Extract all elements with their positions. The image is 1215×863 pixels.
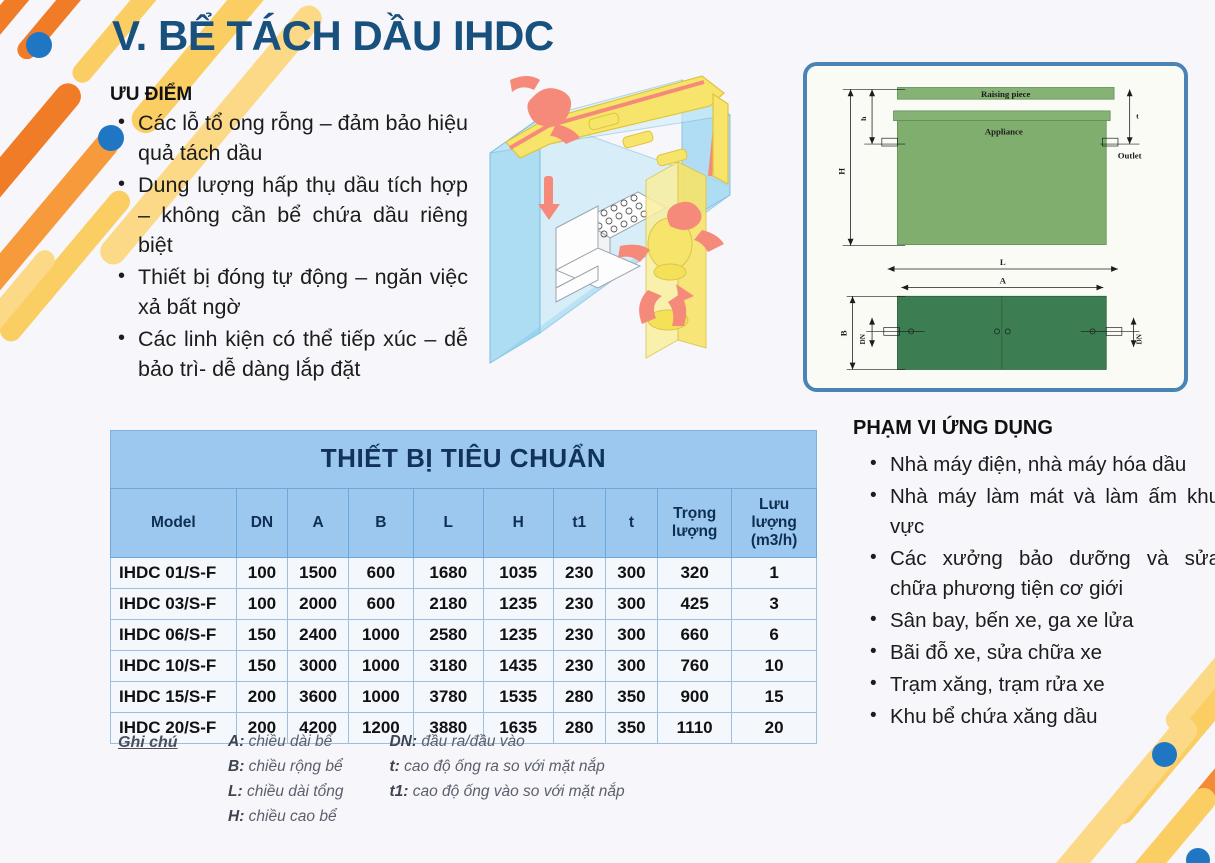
- note-key: L:: [228, 783, 243, 800]
- cell-weight: 320: [658, 558, 732, 589]
- note-text: chiều dài tổng: [243, 783, 344, 800]
- tech-dim-B: B: [839, 330, 849, 336]
- note-row: A: chiều dài bể: [228, 732, 343, 752]
- deco-bar-orange: [14, 0, 125, 63]
- table-row: IHDC 03/S-F 100 2000 600 2180 1235 230 3…: [111, 589, 817, 620]
- column-header-l: L: [413, 489, 483, 558]
- cell-b: 1000: [348, 651, 413, 682]
- column-header-weight: Trọng lượng: [658, 489, 732, 558]
- cell-flow: 1: [732, 558, 817, 589]
- list-item: Nhà máy điện, nhà máy hóa dầu: [890, 450, 1215, 480]
- tech-label-appliance: Appliance: [985, 126, 1023, 136]
- spec-table: THIẾT BỊ TIÊU CHUẨN Model DN A B L H t1 …: [110, 430, 817, 744]
- note-row: L: chiều dài tổng: [228, 782, 343, 802]
- cell-t1: 230: [553, 620, 605, 651]
- cell-t1: 230: [553, 651, 605, 682]
- cell-weight: 425: [658, 589, 732, 620]
- table-row: IHDC 10/S-F 150 3000 1000 3180 1435 230 …: [111, 651, 817, 682]
- cell-b: 1000: [348, 620, 413, 651]
- cell-a: 2400: [288, 620, 349, 651]
- column-header-dn: DN: [236, 489, 288, 558]
- advantages-heading: ƯU ĐIỂM: [110, 84, 192, 106]
- cell-a: 3000: [288, 651, 349, 682]
- cell-dn: 100: [236, 589, 288, 620]
- cell-model: IHDC 15/S-F: [111, 682, 237, 713]
- cell-t: 300: [605, 651, 657, 682]
- column-header-h: H: [483, 489, 553, 558]
- cell-weight: 760: [658, 651, 732, 682]
- table-row: IHDC 01/S-F 100 1500 600 1680 1035 230 3…: [111, 558, 817, 589]
- cell-flow: 6: [732, 620, 817, 651]
- note-text: cao độ ống ra so với mặt nắp: [400, 758, 605, 775]
- cell-b: 1000: [348, 682, 413, 713]
- note-key: DN:: [389, 733, 417, 750]
- notes-label: Ghi chú: [118, 734, 178, 752]
- note-key: t1:: [389, 783, 408, 800]
- tech-label-outlet: Outlet: [1118, 151, 1142, 161]
- spec-table-header-row: Model DN A B L H t1 t Trọng lượng Lưu lư…: [111, 489, 817, 558]
- cell-h: 1035: [483, 558, 553, 589]
- cell-l: 2180: [413, 589, 483, 620]
- cell-flow: 3: [732, 589, 817, 620]
- cell-l: 3180: [413, 651, 483, 682]
- cell-l: 3780: [413, 682, 483, 713]
- list-item: Dung lượng hấp thụ dầu tích hợp – không …: [138, 170, 468, 260]
- cell-weight: 900: [658, 682, 732, 713]
- list-item: Các lỗ tổ ong rỗng – đảm bảo hiệu quả tá…: [138, 108, 468, 168]
- notes-block: Ghi chú A: chiều dài bể B: chiều rộng bể…: [118, 732, 818, 827]
- tech-label-raising-piece: Raising piece: [981, 89, 1031, 99]
- cell-dn: 100: [236, 558, 288, 589]
- deco-dot-blue: [1186, 848, 1210, 863]
- cell-t1: 280: [553, 682, 605, 713]
- deco-bar-yellow: [1048, 712, 1203, 863]
- cell-h: 1235: [483, 620, 553, 651]
- tech-dim-DN-left: DN: [858, 333, 867, 344]
- cell-h: 1235: [483, 589, 553, 620]
- note-row: DN: đầu ra/đầu vào: [389, 732, 624, 752]
- cell-a: 1500: [288, 558, 349, 589]
- cell-t: 300: [605, 558, 657, 589]
- column-header-flow: Lưu lượng (m3/h): [732, 489, 817, 558]
- tech-dim-DN-right: DN: [1134, 333, 1143, 344]
- note-text: đầu ra/đầu vào: [417, 733, 525, 750]
- notes-column-left: A: chiều dài bể B: chiều rộng bể L: chiề…: [228, 732, 343, 827]
- cell-l: 1680: [413, 558, 483, 589]
- list-item: Bãi đỗ xe, sửa chữa xe: [890, 638, 1215, 668]
- cell-model: IHDC 06/S-F: [111, 620, 237, 651]
- list-item: Khu bể chứa xăng dầu: [890, 702, 1215, 732]
- note-key: B:: [228, 758, 244, 775]
- deco-bar-orange: [0, 128, 123, 306]
- note-text: chiều rộng bể: [244, 758, 342, 775]
- scope-heading: PHẠM VI ỨNG DỤNG: [853, 417, 1053, 440]
- deco-dot-blue: [1152, 742, 1177, 767]
- page-title: V. BỂ TÁCH DẦU IHDC: [112, 12, 554, 60]
- table-row: IHDC 15/S-F 200 3600 1000 3780 1535 280 …: [111, 682, 817, 713]
- spec-table-caption: THIẾT BỊ TIÊU CHUẨN: [110, 430, 817, 488]
- cell-l: 2580: [413, 620, 483, 651]
- list-item: Sân bay, bến xe, ga xe lửa: [890, 606, 1215, 636]
- cell-dn: 200: [236, 682, 288, 713]
- table-row: IHDC 06/S-F 150 2400 1000 2580 1235 230 …: [111, 620, 817, 651]
- note-key: t:: [389, 758, 399, 775]
- note-text: chiều dài bể: [244, 733, 332, 750]
- cell-weight: 660: [658, 620, 732, 651]
- deco-bar-orange: [0, 78, 86, 248]
- cell-a: 3600: [288, 682, 349, 713]
- list-item: Thiết bị đóng tự động – ngăn việc xả bất…: [138, 262, 468, 322]
- cell-a: 2000: [288, 589, 349, 620]
- note-text: cao độ ống vào so với mặt nắp: [408, 783, 624, 800]
- column-header-t: t: [605, 489, 657, 558]
- tech-dim-h: h: [859, 116, 868, 121]
- tech-dim-H: H: [837, 168, 847, 175]
- list-item: Nhà máy làm mát và làm ấm khu vực: [890, 482, 1215, 542]
- cell-t: 300: [605, 620, 657, 651]
- column-header-a: A: [288, 489, 349, 558]
- deco-bar-yellow: [1099, 783, 1215, 863]
- cell-model: IHDC 01/S-F: [111, 558, 237, 589]
- cell-model: IHDC 03/S-F: [111, 589, 237, 620]
- svg-text:t: t: [1136, 112, 1139, 121]
- oil-separator-3d-illustration: [470, 58, 770, 413]
- column-header-b: B: [348, 489, 413, 558]
- note-key: H:: [228, 808, 244, 825]
- cell-t1: 230: [553, 558, 605, 589]
- slide-root: V. BỂ TÁCH DẦU IHDC ƯU ĐIỂM Các lỗ tổ on…: [0, 0, 1215, 863]
- cell-b: 600: [348, 558, 413, 589]
- note-row: t1: cao độ ống vào so với mặt nắp: [389, 782, 624, 802]
- note-key: A:: [228, 733, 244, 750]
- deco-dot-blue: [26, 32, 52, 58]
- cell-h: 1535: [483, 682, 553, 713]
- technical-drawing-card: Raising piece Appliance H h t Outlet: [803, 62, 1188, 392]
- advantages-list: Các lỗ tổ ong rỗng – đảm bảo hiệu quả tá…: [112, 108, 468, 386]
- deco-bar-orange: [1181, 719, 1215, 824]
- list-item: Các xưởng bảo dưỡng và sửa chữa phương t…: [890, 544, 1215, 604]
- spec-table-container: THIẾT BỊ TIÊU CHUẨN Model DN A B L H t1 …: [110, 430, 817, 744]
- tech-dim-L: L: [1000, 257, 1006, 267]
- cell-h: 1435: [483, 651, 553, 682]
- notes-column-right: DN: đầu ra/đầu vào t: cao độ ống ra so v…: [389, 732, 624, 827]
- cell-t1: 230: [553, 589, 605, 620]
- cell-b: 600: [348, 589, 413, 620]
- note-text: chiều cao bể: [244, 808, 336, 825]
- cell-dn: 150: [236, 620, 288, 651]
- list-item: Các linh kiện có thể tiếp xúc – dễ bảo t…: [138, 324, 468, 384]
- note-row: t: cao độ ống ra so với mặt nắp: [389, 757, 624, 777]
- cell-t: 350: [605, 682, 657, 713]
- cell-flow: 10: [732, 651, 817, 682]
- cell-model: IHDC 10/S-F: [111, 651, 237, 682]
- note-row: B: chiều rộng bể: [228, 757, 343, 777]
- column-header-model: Model: [111, 489, 237, 558]
- cell-t: 300: [605, 589, 657, 620]
- column-header-t1: t1: [553, 489, 605, 558]
- list-item: Trạm xăng, trạm rửa xe: [890, 670, 1215, 700]
- scope-list: Nhà máy điện, nhà máy hóa dầu Nhà máy là…: [862, 450, 1215, 734]
- deco-bar-yellow: [0, 246, 59, 374]
- note-row: H: chiều cao bể: [228, 807, 343, 827]
- tech-dim-A: A: [1000, 276, 1007, 286]
- deco-bar-orange: [0, 0, 84, 49]
- cell-flow: 15: [732, 682, 817, 713]
- cell-dn: 150: [236, 651, 288, 682]
